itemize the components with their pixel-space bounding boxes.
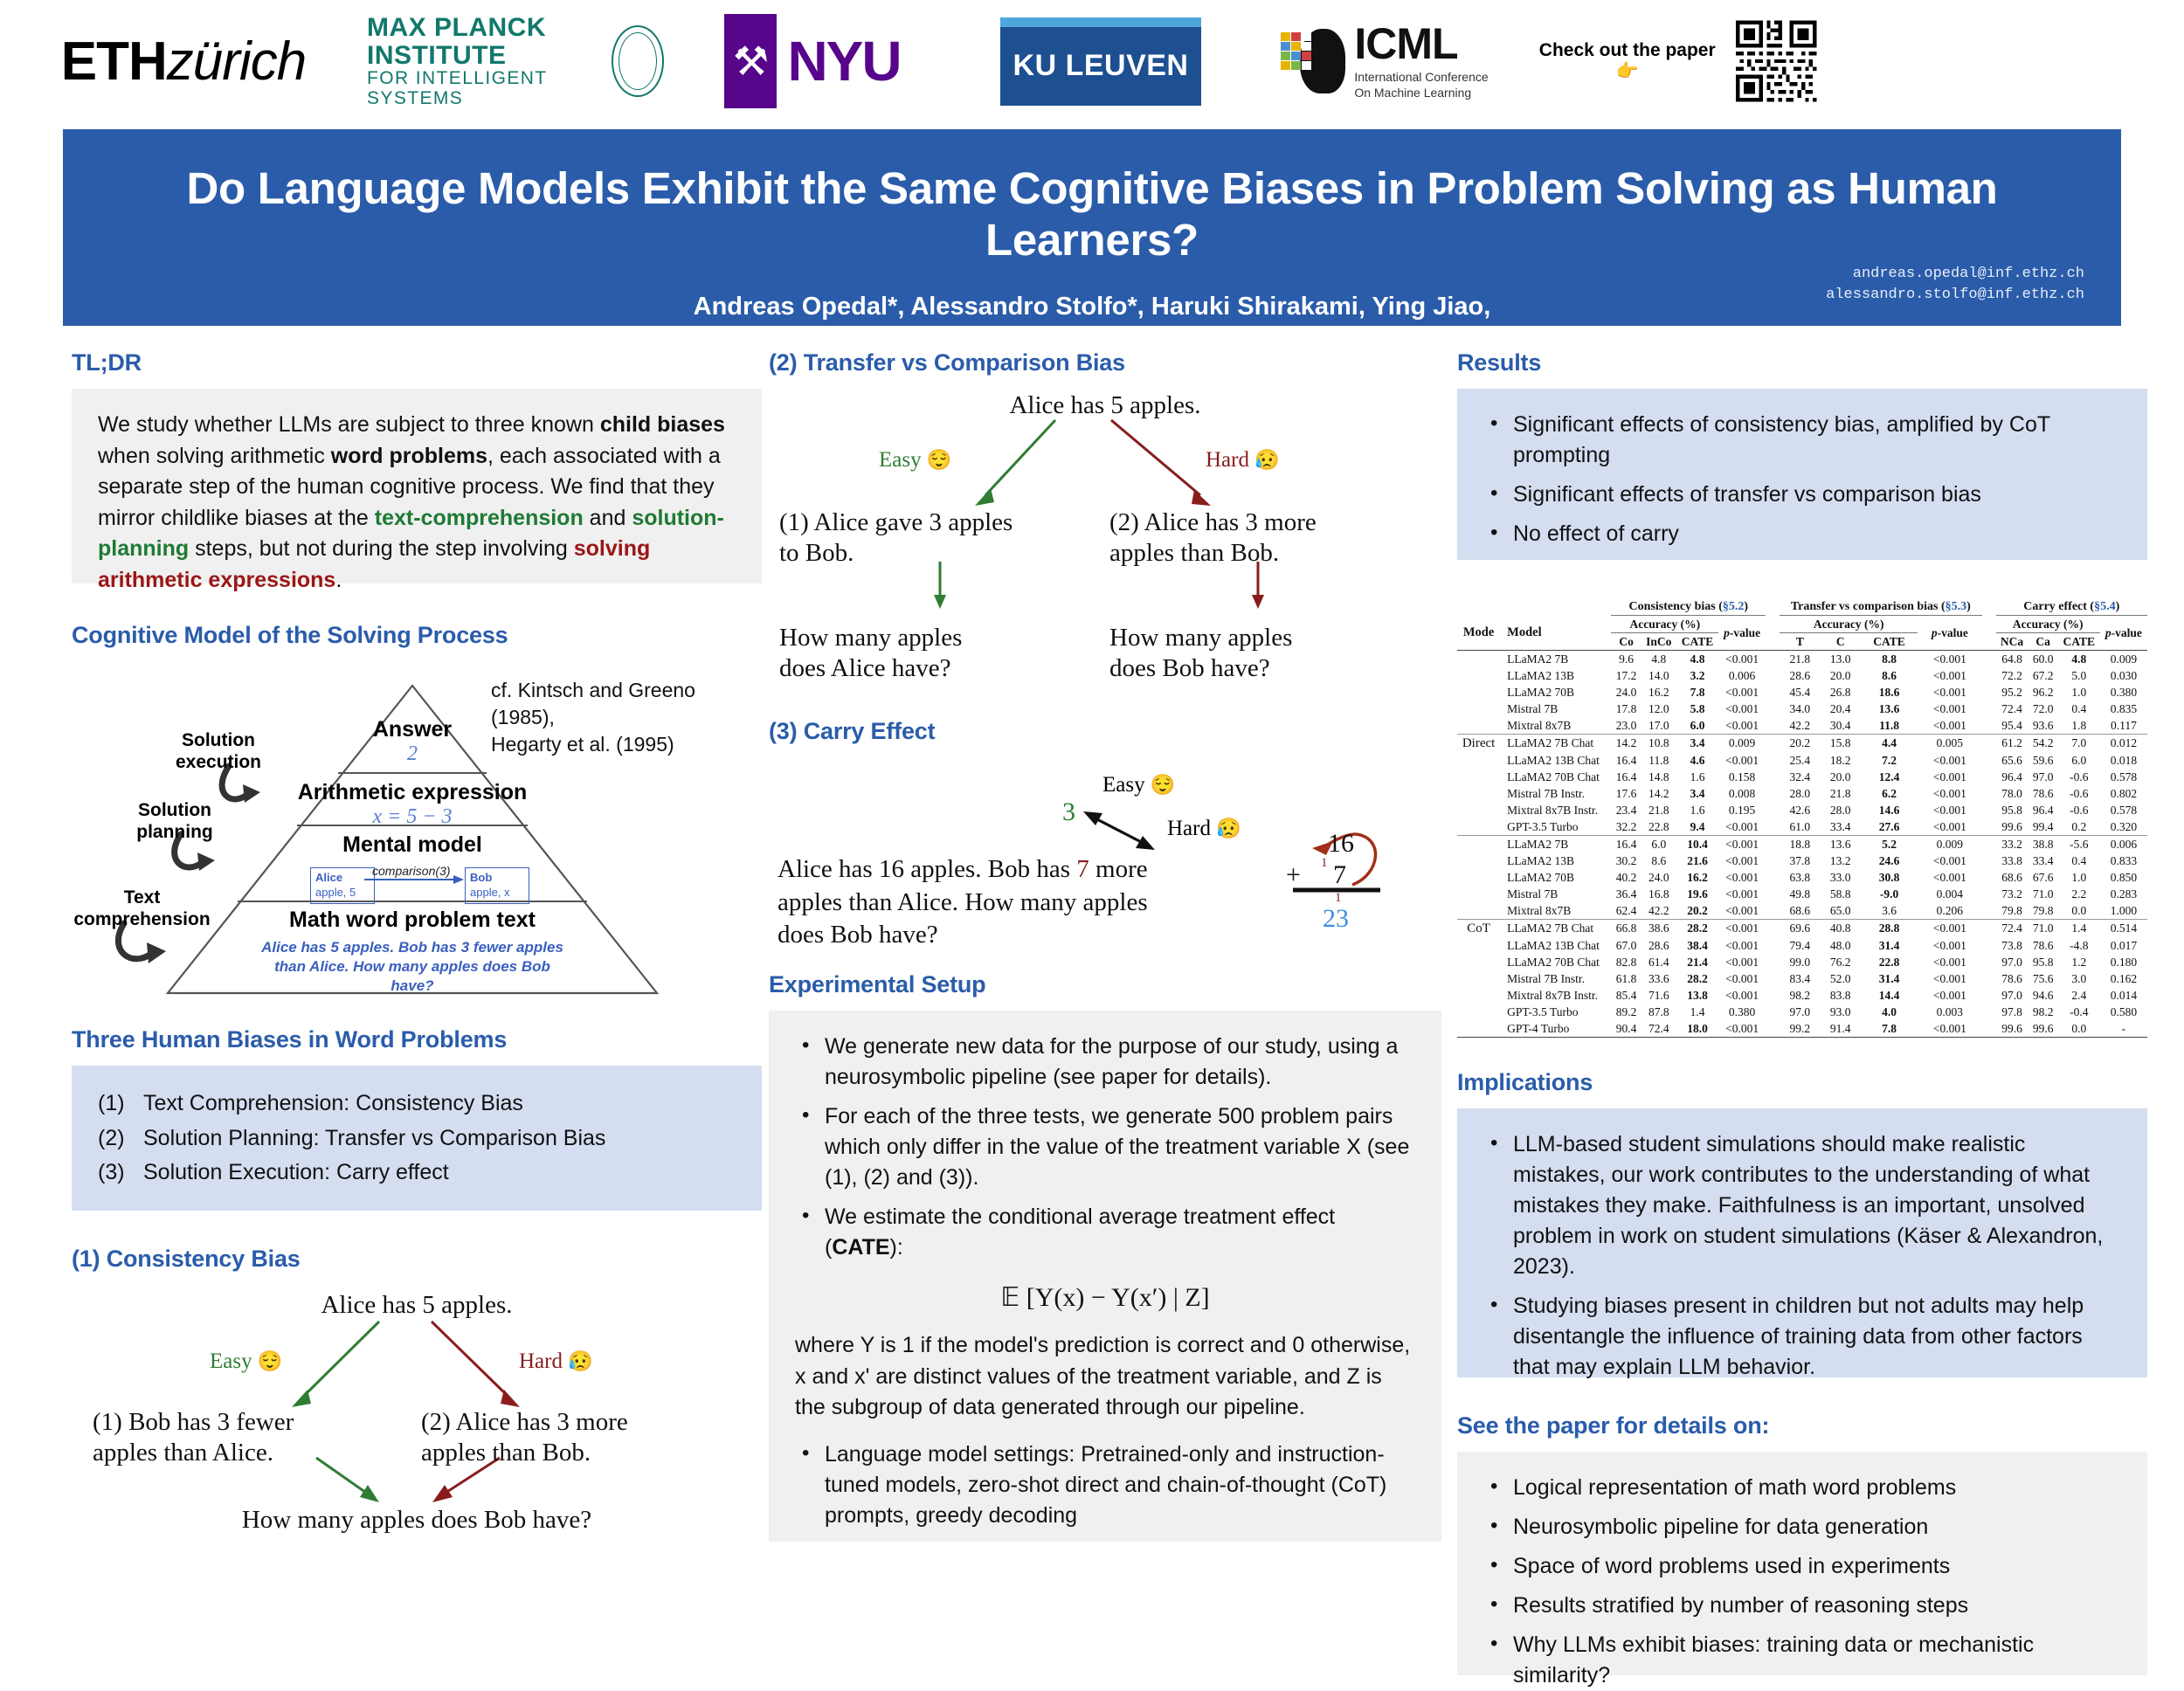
left-column: TL;DR We study whether LLMs are subject …: [72, 349, 762, 1547]
table-cell: 16.4: [1611, 769, 1641, 785]
table-cell: 0.850: [2100, 869, 2147, 886]
table-cell: 0.006: [2100, 836, 2147, 853]
table-cell: 28.0: [1821, 802, 1861, 818]
table-cell: 31.4: [1861, 937, 1918, 954]
title-banner: Do Language Models Exhibit the Same Cogn…: [63, 129, 2121, 326]
carry-easy-value: 3: [1062, 797, 1075, 827]
table-cell: 63.8: [1780, 869, 1820, 886]
table-cell: 68.6: [1996, 869, 2028, 886]
eth-logo-italic: zürich: [167, 31, 306, 92]
table-row: DirectLLaMA2 7B Chat14.210.83.40.00920.2…: [1457, 735, 2147, 753]
table-cell-spacer: [1982, 902, 1996, 920]
table-cell: -5.6: [2058, 836, 2100, 853]
table-cell: -0.6: [2058, 785, 2100, 802]
transfer-hard-label: Hard 😥: [1206, 448, 1280, 473]
list-item: (2)Solution Planning: Transfer vs Compar…: [98, 1122, 736, 1156]
table-cell: 0.005: [1918, 735, 1981, 753]
table-cell: 18.2: [1821, 752, 1861, 769]
results-table: Consistency bias (§5.2) Transfer vs comp…: [1457, 598, 2147, 1038]
table-row: GPT-3.5 Turbo89.287.81.40.38097.093.04.0…: [1457, 1004, 2147, 1020]
eth-logo-text: ETH: [61, 31, 167, 92]
table-cell: 68.6: [1780, 902, 1820, 920]
table-group-header-row: Consistency bias (§5.2) Transfer vs comp…: [1457, 598, 2147, 616]
table-row: Mixtral 8x7B Instr.85.471.613.8<0.00198.…: [1457, 987, 2147, 1004]
table-cell: 95.2: [1996, 684, 2028, 701]
results-table-wrapper: Consistency bias (§5.2) Transfer vs comp…: [1457, 598, 2147, 1038]
carry-sum-carry-digit: 1: [1321, 856, 1328, 871]
table-cell: 69.6: [1780, 920, 1820, 938]
table-cell-spacer: [1766, 869, 1780, 886]
subheader-pvalue-3: p-value: [2100, 616, 2147, 651]
transfer-bias-heading: (2) Transfer vs Comparison Bias: [769, 349, 1441, 376]
table-cell: 0.180: [2100, 954, 2147, 970]
table-cell-model: GPT-4 Turbo: [1500, 1020, 1611, 1038]
transfer-easy-label: Easy 😌: [879, 448, 952, 473]
table-cell-spacer: [1982, 937, 1996, 954]
table-cell-spacer: [1766, 970, 1780, 987]
carry-sum-bottom: 7: [1333, 860, 1346, 890]
three-biases-heading: Three Human Biases in Word Problems: [72, 1026, 762, 1053]
table-cell: 64.8: [1996, 651, 2028, 668]
table-row: Mixtral 8x7B23.017.06.0<0.00142.230.411.…: [1457, 717, 2147, 735]
table-cell-mode: [1457, 937, 1500, 954]
table-cell: 14.4: [1861, 987, 1918, 1004]
eth-zurich-logo: ETHzürich: [0, 13, 367, 109]
icml-subtitle-1: International Conference: [1354, 70, 1488, 86]
table-cell: 0.580: [2100, 1004, 2147, 1020]
results-table-body: LLaMA2 7B9.64.84.8<0.00121.813.08.8<0.00…: [1457, 651, 2147, 1038]
table-cell: 2.2: [2058, 886, 2100, 902]
table-cell-spacer: [1982, 836, 1996, 853]
table-cell: 96.2: [2028, 684, 2058, 701]
arrow-label-solution-execution: Solutionexecution: [149, 729, 288, 773]
table-cell: <0.001: [1718, 651, 1766, 668]
see-paper-bullets: Logical representation of math word prob…: [1483, 1473, 2121, 1691]
relieved-face-icon: 😌: [258, 1350, 283, 1372]
table-cell: 78.6: [2028, 937, 2058, 954]
table-cell: 72.4: [1996, 701, 2028, 717]
table-cell: <0.001: [1718, 717, 1766, 735]
table-row: LLaMA2 70B Chat16.414.81.60.15832.420.01…: [1457, 769, 2147, 785]
table-cell-spacer: [1766, 785, 1780, 802]
list-item: Logical representation of math word prob…: [1513, 1473, 2121, 1503]
table-cell: 4.6: [1676, 752, 1718, 769]
table-cell: 0.802: [2100, 785, 2147, 802]
email-opedal[interactable]: andreas.opedal@inf.ethz.ch: [1826, 264, 2084, 286]
table-cell: 72.0: [2028, 701, 2058, 717]
table-cell: 18.6: [1861, 684, 1918, 701]
max-planck-institute-logo: MAX PLANCK INSTITUTE FOR INTELLIGENT SYS…: [367, 13, 664, 109]
table-cell: 1.4: [2058, 920, 2100, 938]
table-cell: 96.4: [2028, 802, 2058, 818]
table-cell: 72.4: [1996, 920, 2028, 938]
experimental-setup-box: We generate new data for the purpose of …: [769, 1011, 1441, 1542]
table-cell: 71.6: [1641, 987, 1676, 1004]
table-cell: 24.0: [1641, 869, 1676, 886]
table-cell-mode: [1457, 1020, 1500, 1038]
table-cell: 27.6: [1861, 818, 1918, 836]
icml-logo: ICML International Conference On Machine…: [1241, 13, 1529, 109]
table-cell: <0.001: [1918, 818, 1981, 836]
table-cell: 99.6: [1996, 1020, 2028, 1038]
table-cell: 16.2: [1641, 684, 1676, 701]
icml-text: ICML: [1354, 22, 1488, 66]
table-cell: 78.6: [2028, 785, 2058, 802]
authors-line-1: Andreas Opedal*, Alessandro Stolfo*, Har…: [63, 288, 2121, 327]
tldr-text: We study whether LLMs are subject to thr…: [98, 410, 736, 596]
table-cell: 25.4: [1780, 752, 1820, 769]
arrow-label-solution-planning: Solutionplanning: [105, 799, 245, 843]
table-cell: 0.009: [2100, 651, 2147, 668]
sad-sweat-face-icon: 😥: [1216, 818, 1241, 839]
table-cell: <0.001: [1718, 869, 1766, 886]
nyu-logo: ⚒ NYU: [664, 13, 961, 109]
table-cell: 1.0: [2058, 869, 2100, 886]
table-cell: 16.8: [1641, 886, 1676, 902]
qr-code-icon[interactable]: [1736, 19, 1817, 103]
table-cell: 65.0: [1821, 902, 1861, 920]
table-cell-mode: [1457, 852, 1500, 869]
table-cell-spacer: [1982, 818, 1996, 836]
table-cell: 0.117: [2100, 717, 2147, 735]
table-cell: 78.0: [1996, 785, 2028, 802]
table-cell: 45.4: [1780, 684, 1820, 701]
table-cell-mode: [1457, 684, 1500, 701]
subheader-accuracy-3: Accuracy (%): [1996, 616, 2100, 633]
table-cell: 12.0: [1641, 701, 1676, 717]
table-cell: 16.4: [1611, 752, 1641, 769]
table-row: Mistral 7B36.416.819.6<0.00149.858.8-9.0…: [1457, 886, 2147, 902]
table-cell-spacer: [1766, 701, 1780, 717]
table-cell-spacer: [1982, 735, 1996, 753]
table-cell: 0.008: [1718, 785, 1766, 802]
transfer-hard-question: How many applesdoes Bob have?: [1109, 623, 1406, 685]
table-cell-spacer: [1982, 869, 1996, 886]
table-cell-spacer: [1766, 852, 1780, 869]
nyu-logo-text: NYU: [787, 29, 900, 93]
table-cell: 33.2: [1996, 836, 2028, 853]
table-cell: 61.4: [1641, 954, 1676, 970]
table-cell: 0.014: [2100, 987, 2147, 1004]
table-cell: 76.2: [1821, 954, 1861, 970]
table-cell: 2.4: [2058, 987, 2100, 1004]
table-cell: 17.8: [1611, 701, 1641, 717]
results-table-head: Consistency bias (§5.2) Transfer vs comp…: [1457, 598, 2147, 651]
table-cell-spacer: [1766, 836, 1780, 853]
transfer-easy-question: How many applesdoes Alice have?: [779, 623, 1068, 685]
transfer-premise: Alice has 5 apples.: [769, 390, 1441, 421]
table-cell: 28.2: [1676, 920, 1718, 938]
table-cell: <0.001: [1918, 769, 1981, 785]
table-cell: 0.514: [2100, 920, 2147, 938]
table-cell: 99.6: [2028, 1020, 2058, 1038]
table-cell: 72.4: [1641, 1020, 1676, 1038]
table-cell: 4.8: [1676, 651, 1718, 668]
pyramid-level-answer: Answer 2: [325, 717, 500, 766]
table-cell: 95.8: [1996, 802, 2028, 818]
table-cell: 30.8: [1861, 869, 1918, 886]
icml-subtitle-2: On Machine Learning: [1354, 86, 1488, 101]
group-header-consistency: Consistency bias (§5.2): [1611, 598, 1766, 616]
table-cell: 67.2: [2028, 667, 2058, 684]
table-cell: 54.2: [2028, 735, 2058, 753]
table-cell: 75.6: [2028, 970, 2058, 987]
table-cell: 16.4: [1611, 836, 1641, 853]
table-cell-spacer: [1766, 1004, 1780, 1020]
table-cell: -0.6: [2058, 769, 2100, 785]
table-cell: 98.2: [1780, 987, 1820, 1004]
arrow-label-text-comprehension: Textcomprehension: [61, 887, 223, 930]
table-row: Mixtral 8x7B62.442.220.2<0.00168.665.03.…: [1457, 902, 2147, 920]
table-cell-model: LLaMA2 70B: [1500, 684, 1611, 701]
table-cell: 13.2: [1821, 852, 1861, 869]
table-cell: <0.001: [1918, 802, 1981, 818]
col-header-t: T: [1780, 633, 1820, 651]
table-cell: 14.0: [1641, 667, 1676, 684]
table-cell: 99.6: [1996, 818, 2028, 836]
table-cell: 23.4: [1611, 802, 1641, 818]
table-cell: 7.8: [1861, 1020, 1918, 1038]
table-cell: 78.6: [1996, 970, 2028, 987]
transfer-easy-branch: (1) Alice gave 3 applesto Bob.: [779, 507, 1068, 569]
contact-emails: andreas.opedal@inf.ethz.ch alessandro.st…: [1826, 264, 2084, 307]
carry-sum-plus: +: [1286, 860, 1301, 890]
table-cell: 0.380: [2100, 684, 2147, 701]
tldr-heading: TL;DR: [72, 349, 762, 376]
table-cell: 79.8: [1996, 902, 2028, 920]
table-cell: 0.012: [2100, 735, 2147, 753]
table-cell-spacer: [1766, 802, 1780, 818]
table-cell-mode: Direct: [1457, 735, 1500, 753]
table-cell: 99.2: [1780, 1020, 1820, 1038]
table-cell: 42.6: [1780, 802, 1820, 818]
table-cell: 61.8: [1611, 970, 1641, 987]
table-row: Mistral 7B Instr.61.833.628.2<0.00183.45…: [1457, 970, 2147, 987]
table-row: CoTLLaMA2 7B Chat66.838.628.2<0.00169.64…: [1457, 920, 2147, 938]
sad-sweat-face-icon: 😥: [568, 1350, 593, 1372]
table-cell: 24.0: [1611, 684, 1641, 701]
table-cell-spacer: [1766, 667, 1780, 684]
table-cell: 12.4: [1861, 769, 1918, 785]
table-cell: 26.8: [1821, 684, 1861, 701]
table-cell: 0.578: [2100, 802, 2147, 818]
table-cell: <0.001: [1718, 902, 1766, 920]
table-cell-spacer: [1766, 902, 1780, 920]
table-cell: 13.0: [1821, 651, 1861, 668]
table-row: LLaMA2 7B9.64.84.8<0.00121.813.08.8<0.00…: [1457, 651, 2147, 668]
table-cell-spacer: [1766, 954, 1780, 970]
table-cell-mode: [1457, 667, 1500, 684]
ku-leuven-text: KU LEUVEN: [1013, 49, 1189, 83]
subheader-accuracy-1: Accuracy (%): [1611, 616, 1718, 633]
table-cell: <0.001: [1918, 684, 1981, 701]
table-cell: 3.2: [1676, 667, 1718, 684]
results-box: Significant effects of consistency bias,…: [1457, 389, 2147, 560]
sad-sweat-face-icon: 😥: [1254, 449, 1280, 471]
poster-root: ETHzürich MAX PLANCK INSTITUTE FOR INTEL…: [0, 0, 2184, 1544]
table-row: LLaMA2 13B Chat16.411.84.6<0.00125.418.2…: [1457, 752, 2147, 769]
table-cell: 32.2: [1611, 818, 1641, 836]
middle-column: (2) Transfer vs Comparison Bias Alice ha…: [769, 349, 1441, 1542]
table-cell-spacer: [1982, 769, 1996, 785]
table-cell: 83.8: [1821, 987, 1861, 1004]
table-cell: 28.8: [1861, 920, 1918, 938]
table-cell: 0.2: [2058, 818, 2100, 836]
table-cell: 20.4: [1821, 701, 1861, 717]
table-cell: <0.001: [1918, 970, 1981, 987]
table-cell-spacer: [1982, 920, 1996, 938]
table-cell-spacer: [1766, 818, 1780, 836]
table-cell-model: Mixtral 8x7B Instr.: [1500, 987, 1611, 1004]
table-cell: 79.8: [2028, 902, 2058, 920]
table-cell: <0.001: [1918, 1020, 1981, 1038]
transfer-hard-branch: (2) Alice has 3 moreapples than Bob.: [1109, 507, 1406, 569]
paper-qr-block[interactable]: Check out the paper 👉: [1529, 13, 1817, 109]
table-cell: 0.283: [2100, 886, 2147, 902]
right-column: Results Significant effects of consisten…: [1457, 349, 2147, 1675]
table-cell: 21.4: [1676, 954, 1718, 970]
table-cell-spacer: [1766, 886, 1780, 902]
table-cell: 11.8: [1641, 752, 1676, 769]
implications-box: LLM-based student simulations should mak…: [1457, 1108, 2147, 1377]
table-cell: 33.4: [1821, 818, 1861, 836]
table-cell: <0.001: [1918, 785, 1981, 802]
table-cell: 38.6: [1641, 920, 1676, 938]
table-cell-spacer: [1982, 717, 1996, 735]
table-cell-model: LLaMA2 7B Chat: [1500, 735, 1611, 753]
table-cell-spacer: [1766, 769, 1780, 785]
table-cell: 17.2: [1611, 667, 1641, 684]
table-cell: 73.2: [1996, 886, 2028, 902]
col-header-cate-1: CATE: [1676, 633, 1718, 651]
pyramid-level-problem-text: Math word problem text Alice has 5 apple…: [246, 908, 578, 996]
icml-head-icon: [1281, 24, 1345, 99]
table-cell-mode: [1457, 769, 1500, 785]
table-cell-spacer: [1766, 920, 1780, 938]
table-cell-mode: [1457, 752, 1500, 769]
table-cell: 5.2: [1861, 836, 1918, 853]
table-cell: <0.001: [1918, 852, 1981, 869]
table-cell: 97.0: [1780, 1004, 1820, 1020]
table-cell: 42.2: [1641, 902, 1676, 920]
table-cell: 0.380: [1718, 1004, 1766, 1020]
table-cell: <0.001: [1718, 987, 1766, 1004]
table-cell: 91.4: [1821, 1020, 1861, 1038]
consistency-bias-heading: (1) Consistency Bias: [72, 1246, 762, 1273]
table-cell: 16.2: [1676, 869, 1718, 886]
table-cell-model: GPT-3.5 Turbo: [1500, 818, 1611, 836]
group-header-transfer: Transfer vs comparison bias (§5.3): [1780, 598, 1981, 616]
table-cell: 38.8: [2028, 836, 2058, 853]
table-cell-model: LLaMA2 70B Chat: [1500, 954, 1611, 970]
carry-sum-top: 16: [1328, 829, 1354, 859]
table-cell: 85.4: [1611, 987, 1641, 1004]
table-cell-mode: [1457, 886, 1500, 902]
table-cell: 22.8: [1861, 954, 1918, 970]
pyramid-level-mental-model: Mental model: [290, 832, 535, 858]
table-cell-spacer: [1982, 852, 1996, 869]
table-cell-model: Mixtral 8x7B: [1500, 717, 1611, 735]
table-cell-model: LLaMA2 13B Chat: [1500, 752, 1611, 769]
carry-effect-heading: (3) Carry Effect: [769, 718, 1441, 745]
table-cell: 1.4: [1676, 1004, 1718, 1020]
table-cell: <0.001: [1718, 954, 1766, 970]
table-row: Mixtral 8x7B Instr.23.421.81.60.19542.62…: [1457, 802, 2147, 818]
page-title: Do Language Models Exhibit the Same Cogn…: [63, 129, 2121, 266]
cate-where-text: where Y is 1 if the model's prediction i…: [795, 1330, 1415, 1424]
table-cell: 32.4: [1780, 769, 1820, 785]
table-cell: 30.4: [1821, 717, 1861, 735]
table-cell: 9.4: [1676, 818, 1718, 836]
mpi-seal-icon: [612, 25, 664, 97]
list-item: We generate new data for the purpose of …: [825, 1032, 1415, 1093]
table-cell-model: Mixtral 8x7B: [1500, 902, 1611, 920]
table-cell: 4.4: [1861, 735, 1918, 753]
table-cell: 0.0: [2058, 902, 2100, 920]
table-cell-mode: [1457, 987, 1500, 1004]
table-cell: <0.001: [1918, 987, 1981, 1004]
table-cell-spacer: [1982, 954, 1996, 970]
table-cell: 10.8: [1641, 735, 1676, 753]
pyramid-level-arithmetic: Arithmetic expression x = 5 − 3: [281, 780, 543, 829]
cognitive-model-heading: Cognitive Model of the Solving Process: [72, 622, 762, 649]
table-cell: 98.2: [2028, 1004, 2058, 1020]
table-cell: <0.001: [1718, 701, 1766, 717]
table-cell: 49.8: [1780, 886, 1820, 902]
list-item: Significant effects of consistency bias,…: [1513, 410, 2121, 471]
table-cell-spacer: [1766, 937, 1780, 954]
table-cell-mode: CoT: [1457, 920, 1500, 938]
email-stolfo[interactable]: alessandro.stolfo@inf.ethz.ch: [1826, 285, 2084, 307]
tldr-box: We study whether LLMs are subject to thr…: [72, 389, 762, 583]
consistency-easy-label: Easy 😌: [210, 1349, 283, 1374]
table-cell: 40.8: [1821, 920, 1861, 938]
table-cell-spacer: [1982, 987, 1996, 1004]
table-cell-spacer: [1766, 651, 1780, 668]
table-cell: 22.8: [1641, 818, 1676, 836]
table-cell: 40.2: [1611, 869, 1641, 886]
table-cell: <0.001: [1918, 752, 1981, 769]
table-cell: 9.6: [1611, 651, 1641, 668]
table-row: GPT-3.5 Turbo32.222.89.4<0.00161.033.427…: [1457, 818, 2147, 836]
table-cell: 4.8: [2058, 651, 2100, 668]
table-cell-spacer: [1766, 717, 1780, 735]
col-header-model: Model: [1500, 616, 1611, 651]
list-item: For each of the three tests, we generate…: [825, 1101, 1415, 1193]
table-cell: 23.0: [1611, 717, 1641, 735]
table-cell: 72.2: [1996, 667, 2028, 684]
table-cell: 10.4: [1676, 836, 1718, 853]
table-cell: 24.6: [1861, 852, 1918, 869]
table-cell: 0.835: [2100, 701, 2147, 717]
see-paper-heading: See the paper for details on:: [1457, 1412, 2147, 1439]
table-cell-mode: [1457, 701, 1500, 717]
table-cell: 95.8: [2028, 954, 2058, 970]
table-cell: <0.001: [1718, 684, 1766, 701]
table-cell: 31.4: [1861, 970, 1918, 987]
table-cell: 58.8: [1821, 886, 1861, 902]
mpi-line1: MAX PLANCK INSTITUTE: [367, 14, 599, 69]
table-cell: 97.8: [1996, 1004, 2028, 1020]
table-cell: <0.001: [1918, 920, 1981, 938]
table-cell: 18.0: [1676, 1020, 1718, 1038]
table-cell-spacer: [1766, 987, 1780, 1004]
table-cell: 62.4: [1611, 902, 1641, 920]
col-header-ca: Ca: [2028, 633, 2058, 651]
table-cell: 28.0: [1780, 785, 1820, 802]
experimental-setup-bullets: We generate new data for the purpose of …: [795, 1032, 1415, 1263]
table-cell-mode: [1457, 836, 1500, 853]
